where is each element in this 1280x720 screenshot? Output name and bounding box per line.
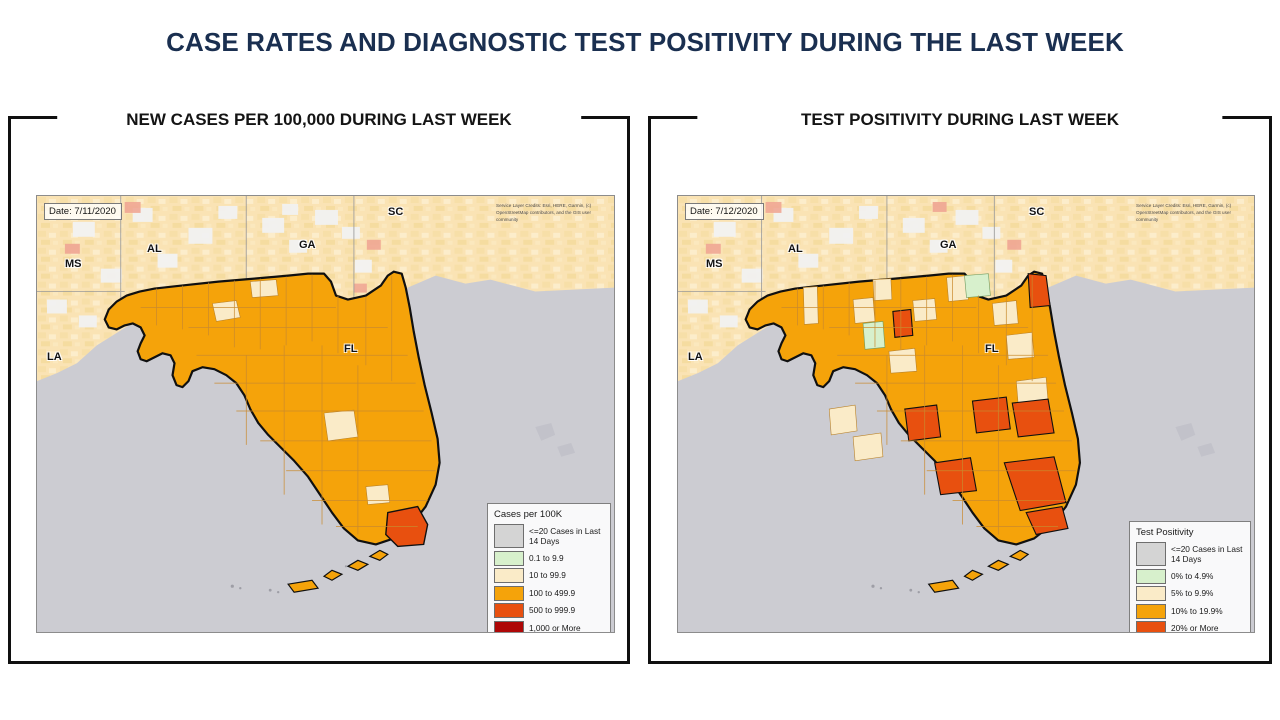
legend-swatch-icon (494, 586, 524, 601)
legend-item-label: 0% to 4.9% (1171, 571, 1213, 581)
legend-item-label: 0.1 to 9.9 (529, 553, 564, 563)
legend-item: 5% to 9.9% (1136, 586, 1243, 601)
map-new-cases[interactable]: Date: 7/11/2020 Service Layer Credits: E… (36, 195, 615, 633)
legend-item-label: <=20 Cases in Last 14 Days (529, 526, 603, 546)
legend-item-label: 100 to 499.9 (529, 588, 575, 598)
map-date-label-test-positivity: Date: 7/12/2020 (685, 203, 764, 220)
page-title: CASE RATES AND DIAGNOSTIC TEST POSITIVIT… (150, 26, 1140, 60)
legend-item-label: 10 to 99.9 (529, 570, 566, 580)
legend-item: 10 to 99.9 (494, 568, 603, 583)
legend-swatch-icon (494, 621, 524, 634)
map-credits-test-positivity: Service Layer Credits: Esri, HERE, Garmi… (1136, 203, 1248, 224)
legend-swatch-icon (494, 568, 524, 583)
legend-item: 0% to 4.9% (1136, 569, 1243, 584)
legend-item-label: <=20 Cases in Last 14 Days (1171, 544, 1243, 564)
map-date-label-new-cases: Date: 7/11/2020 (44, 203, 122, 220)
legend-item: <=20 Cases in Last 14 Days (494, 524, 603, 548)
legend-item: 500 to 999.9 (494, 603, 603, 618)
legend-swatch-icon (494, 524, 524, 548)
map-test-positivity[interactable]: Date: 7/12/2020 Service Layer Credits: E… (677, 195, 1255, 633)
panel-new-cases: NEW CASES PER 100,000 DURING LAST WEEK (8, 116, 630, 664)
slide-root: CASE RATES AND DIAGNOSTIC TEST POSITIVIT… (0, 0, 1280, 720)
legend-item-label: 20% or More (1171, 623, 1219, 633)
legend-title: Cases per 100K (494, 509, 603, 520)
legend-swatch-icon (494, 551, 524, 566)
legend-title: Test Positivity (1136, 527, 1243, 538)
legend-item: 1,000 or More (494, 621, 603, 634)
legend-swatch-icon (494, 603, 524, 618)
legend-swatch-icon (1136, 542, 1166, 566)
panel-title-test-positivity: TEST POSITIVITY DURING LAST WEEK (697, 106, 1222, 134)
panel-test-positivity: TEST POSITIVITY DURING LAST WEEK (648, 116, 1272, 664)
legend-item-label: 500 to 999.9 (529, 605, 575, 615)
legend-swatch-icon (1136, 604, 1166, 619)
map-credits-new-cases: Service Layer Credits: Esri, HERE, Garmi… (496, 203, 608, 224)
panel-title-new-cases: NEW CASES PER 100,000 DURING LAST WEEK (57, 106, 581, 134)
legend-item: 0.1 to 9.9 (494, 551, 603, 566)
legend-item: 100 to 499.9 (494, 586, 603, 601)
legend-item-label: 10% to 19.9% (1171, 606, 1223, 616)
legend-cases-per-100k: Cases per 100K <=20 Cases in Last 14 Day… (487, 503, 611, 633)
legend-swatch-icon (1136, 569, 1166, 584)
legend-swatch-icon (1136, 586, 1166, 601)
legend-item: <=20 Cases in Last 14 Days (1136, 542, 1243, 566)
legend-swatch-icon (1136, 621, 1166, 633)
legend-item: 20% or More (1136, 621, 1243, 633)
legend-test-positivity: Test Positivity <=20 Cases in Last 14 Da… (1129, 521, 1251, 633)
legend-item: 10% to 19.9% (1136, 604, 1243, 619)
legend-item-label: 5% to 9.9% (1171, 588, 1213, 598)
legend-item-label: 1,000 or More (529, 623, 581, 633)
